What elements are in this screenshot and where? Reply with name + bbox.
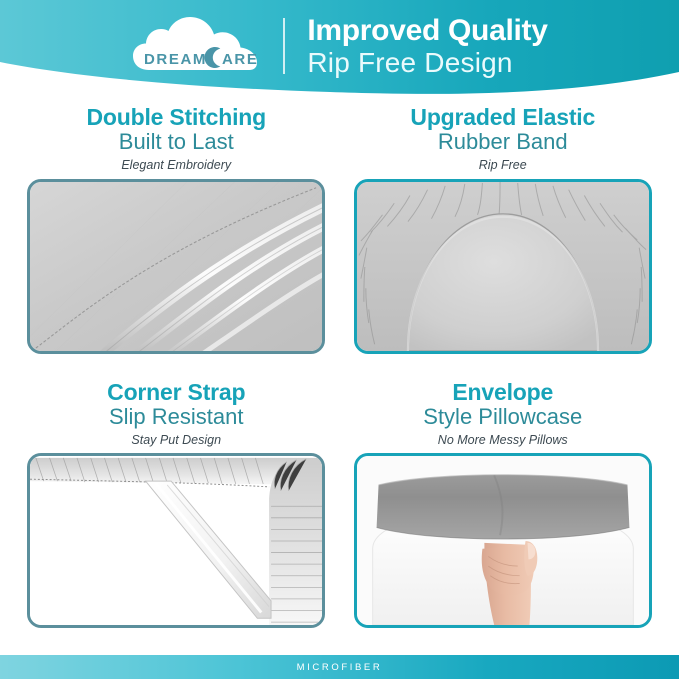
logo-word-dream: DREAM bbox=[144, 51, 207, 68]
headline-secondary: Rip Free Design bbox=[307, 49, 547, 77]
feature-title: Double Stitching bbox=[86, 106, 266, 129]
footer-label: MICROFIBER bbox=[297, 662, 383, 673]
product-infographic: DREAM ARE Improved Quality Rip Free Desi… bbox=[0, 0, 679, 679]
header-headline: Improved Quality Rip Free Design bbox=[307, 16, 547, 77]
feature-subtitle: Style Pillowcase bbox=[423, 406, 582, 428]
feature-caption: Stay Put Design bbox=[107, 434, 245, 447]
feature-text-block: Corner Strap Slip Resistant Stay Put Des… bbox=[107, 375, 245, 447]
feature-title: Envelope bbox=[423, 381, 582, 404]
elastic-rubber-band-photo bbox=[354, 179, 652, 354]
header-content: DREAM ARE Improved Quality Rip Free Desi… bbox=[0, 0, 679, 92]
feature-caption: Elegant Embroidery bbox=[86, 159, 266, 172]
logo-word-care: ARE bbox=[222, 51, 258, 68]
envelope-pillowcase-photo bbox=[354, 453, 652, 628]
headline-primary: Improved Quality bbox=[307, 16, 547, 46]
feature-subtitle: Built to Last bbox=[86, 131, 266, 153]
feature-upgraded-elastic: Upgraded Elastic Rubber Band Rip Free bbox=[343, 100, 664, 371]
feature-text-block: Envelope Style Pillowcase No More Messy … bbox=[423, 375, 582, 447]
feature-subtitle: Rubber Band bbox=[410, 131, 595, 153]
feature-text-block: Double Stitching Built to Last Elegant E… bbox=[86, 100, 266, 172]
feature-envelope-pillowcase: Envelope Style Pillowcase No More Messy … bbox=[343, 375, 664, 646]
feature-text-block: Upgraded Elastic Rubber Band Rip Free bbox=[410, 100, 595, 172]
header-divider bbox=[283, 18, 285, 74]
feature-title: Corner Strap bbox=[107, 381, 245, 404]
double-stitching-photo bbox=[27, 179, 325, 354]
feature-title: Upgraded Elastic bbox=[410, 106, 595, 129]
feature-grid: Double Stitching Built to Last Elegant E… bbox=[0, 100, 679, 645]
feature-caption: Rip Free bbox=[410, 159, 595, 172]
brand-logo: DREAM ARE bbox=[131, 15, 265, 77]
feature-subtitle: Slip Resistant bbox=[107, 406, 245, 428]
feature-caption: No More Messy Pillows bbox=[423, 434, 582, 447]
corner-strap-photo bbox=[27, 453, 325, 628]
feature-corner-strap: Corner Strap Slip Resistant Stay Put Des… bbox=[16, 375, 337, 646]
feature-double-stitching: Double Stitching Built to Last Elegant E… bbox=[16, 100, 337, 371]
footer-bar: MICROFIBER bbox=[0, 655, 679, 679]
